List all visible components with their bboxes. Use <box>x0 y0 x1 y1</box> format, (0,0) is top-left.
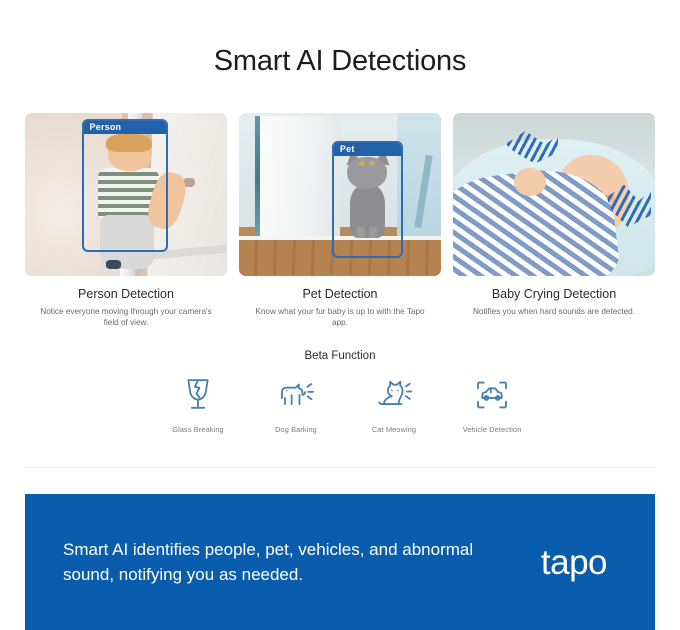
baby-hand <box>514 168 546 196</box>
summary-banner: Smart AI identifies people, pet, vehicle… <box>25 494 655 630</box>
baby-crying-photo <box>453 113 655 276</box>
feature-card-description: Notifies you when hard sounds are detect… <box>453 306 655 317</box>
beta-item-vehicle-detection[interactable]: Vehicle Detection <box>444 374 540 434</box>
feature-card-row: Person Person Detection Notice everyone … <box>25 113 655 328</box>
detection-box-label: Person <box>84 121 167 134</box>
beta-function-heading: Beta Function <box>0 350 680 362</box>
tapo-logo: tapo <box>541 545 621 580</box>
person-detection-photo: Person <box>25 113 227 276</box>
beta-item-label: Glass Breaking <box>172 425 224 434</box>
car-viewfinder-icon <box>471 374 513 416</box>
page-title: Smart AI Detections <box>0 45 680 78</box>
pet-detection-photo: Pet <box>239 113 441 276</box>
feature-card-pet: Pet Pet Detection Know what your fur bab… <box>239 113 441 328</box>
beta-item-label: Vehicle Detection <box>463 425 522 434</box>
feature-card-description: Know what your fur baby is up to with th… <box>239 306 441 328</box>
beta-item-dog-barking[interactable]: Dog Barking <box>248 374 344 434</box>
section-divider <box>25 467 655 468</box>
door-edge-strip <box>255 116 260 242</box>
feature-card-person: Person Person Detection Notice everyone … <box>25 113 227 328</box>
beta-item-label: Dog Barking <box>275 425 317 434</box>
detection-box-person: Person <box>82 119 169 253</box>
feature-card-description: Notice everyone moving through your came… <box>25 306 227 328</box>
feature-card-baby-crying: Baby Crying Detection Notifies you when … <box>453 113 655 328</box>
detection-box-pet: Pet <box>332 141 403 258</box>
cat-icon <box>373 374 415 416</box>
open-door <box>255 116 340 242</box>
beta-item-glass-breaking[interactable]: Glass Breaking <box>150 374 246 434</box>
feature-card-title: Baby Crying Detection <box>453 287 655 301</box>
detection-box-label: Pet <box>334 143 401 156</box>
beta-item-cat-meowing[interactable]: Cat Meowing <box>346 374 442 434</box>
product-feature-page: Smart AI Detections <box>0 0 680 630</box>
feature-card-title: Pet Detection <box>239 287 441 301</box>
beta-function-list: Glass Breaking Dog Barking <box>150 374 540 434</box>
banner-text: Smart AI identifies people, pet, vehicle… <box>63 537 483 587</box>
toddler-sock <box>106 260 121 270</box>
broken-glass-icon <box>177 374 219 416</box>
feature-card-title: Person Detection <box>25 287 227 301</box>
dog-icon <box>275 374 317 416</box>
beta-item-label: Cat Meowing <box>372 425 416 434</box>
